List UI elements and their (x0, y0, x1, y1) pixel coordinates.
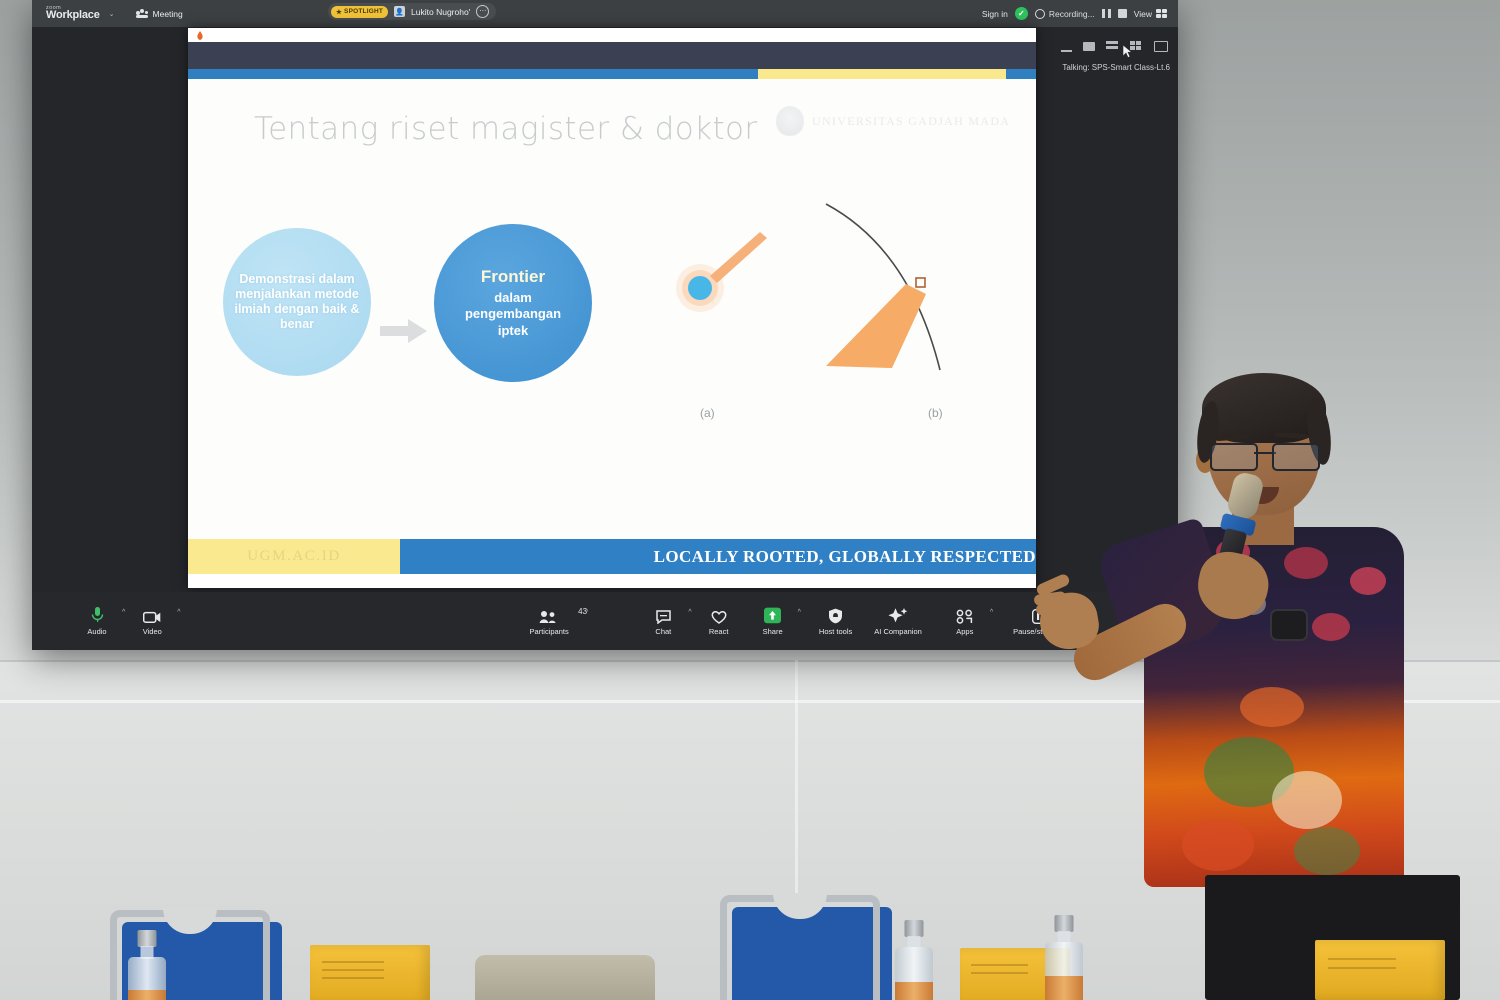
zoom-logo: zoom Workplace (46, 6, 100, 22)
zoom-title-bar: zoom Workplace ⌄ Meeting (32, 0, 1178, 27)
minimize-icon[interactable] (1061, 41, 1072, 52)
slide-title: Tentang riset magister & doktor (254, 111, 758, 147)
toolbar-participants-label: Participants (530, 627, 569, 636)
toolbar-video[interactable]: Video ^ (125, 607, 180, 636)
share-view-controls (1061, 41, 1168, 52)
stop-recording-icon[interactable] (1118, 9, 1127, 18)
diagram-part-b (826, 204, 940, 370)
yellow-box (1315, 940, 1445, 1000)
bottle-label (128, 990, 166, 1000)
concept-circle-right-body: dalam pengembangan iptek (434, 290, 592, 339)
toolbar-share-label: Share (763, 627, 783, 636)
pop-out-icon[interactable] (1154, 41, 1168, 52)
arrow-right-icon (380, 318, 428, 344)
slide-footer-right-block: LOCALLY ROOTED, GLOBALLY RESPECTED (400, 539, 1036, 574)
seat-cushion (475, 955, 655, 1000)
chevron-up-icon[interactable]: ^ (177, 609, 180, 616)
slide-topbar-yellow (758, 69, 1006, 79)
slide-topbar-blue-right (1006, 69, 1036, 79)
diagram-part-a (676, 232, 767, 312)
view-switcher[interactable]: View (1134, 9, 1168, 19)
conference-chair (720, 895, 880, 1000)
heart-icon (711, 607, 727, 624)
toolbar-chat[interactable]: Chat ^ (636, 607, 691, 636)
star-icon: ★ (336, 8, 342, 16)
chat-icon (656, 607, 671, 624)
diagram-label-a: (a) (700, 406, 715, 420)
sign-in-button[interactable]: Sign in (982, 9, 1008, 19)
recording-label: Recording... (1049, 9, 1095, 19)
slide-dark-band (188, 42, 1036, 69)
meeting-tab[interactable]: Meeting (136, 9, 183, 19)
toolbar-apps-label: Apps (956, 627, 973, 636)
spotlight-badge-label: SPOTLIGHT (344, 8, 383, 15)
meeting-tab-label: Meeting (153, 9, 183, 19)
screenshot-root: zoom Workplace ⌄ Meeting (0, 0, 1500, 1000)
spotlight-badge: ★ SPOTLIGHT (331, 6, 388, 18)
ugm-logo-lockup: UNIVERSITAS GADJAH MADA (776, 106, 1010, 136)
camera-icon (143, 607, 161, 624)
toolbar-audio[interactable]: Audio ^ (70, 607, 125, 636)
more-ellipsis-icon[interactable]: ⋯ (476, 5, 489, 18)
strip-view-icon[interactable] (1106, 41, 1119, 52)
toolbar-host-tools-label: Host tools (819, 627, 852, 636)
diagram-label-b: (b) (928, 406, 943, 420)
toolbar-react-label: React (709, 627, 729, 636)
bottle-body (895, 947, 933, 1000)
ugm-seal-icon (776, 106, 804, 136)
water-bottle (128, 930, 166, 1000)
toolbar-chat-label: Chat (655, 627, 671, 636)
shield-icon (828, 607, 843, 624)
share-screen-icon (763, 607, 782, 624)
participants-icon (539, 607, 559, 624)
people-group-icon (136, 9, 148, 19)
security-shield-icon[interactable]: ✓ (1015, 7, 1028, 20)
toolbar-share[interactable]: Share ^ (746, 607, 801, 636)
bottle-cap (905, 920, 924, 937)
slide-topbar-blue-left (188, 69, 758, 79)
concept-circle-left: Demonstrasi dalam menjalankan metode ilm… (223, 228, 371, 376)
sparkle-icon (888, 607, 908, 624)
eyeglass-lens-right (1272, 443, 1320, 471)
toolbar-apps[interactable]: Apps ^ (938, 607, 993, 636)
presentation-slide: Tentang riset magister & doktor UNIVERSI… (188, 28, 1036, 588)
wall-mounted-display: zoom Workplace ⌄ Meeting (32, 0, 1178, 650)
water-bottle (895, 920, 933, 1000)
concept-circle-left-text: Demonstrasi dalam menjalankan metode ilm… (223, 272, 371, 333)
speaker-view-icon[interactable] (1083, 42, 1095, 51)
chevron-up-icon[interactable]: ^ (990, 609, 993, 616)
presenter-left-arm (1034, 535, 1184, 605)
toolbar-host-tools[interactable]: Host tools (813, 607, 858, 636)
research-frontier-diagram (640, 198, 1000, 408)
chevron-up-icon[interactable]: ^ (798, 609, 801, 616)
water-bottle (1045, 915, 1083, 1000)
toolbar-ai-companion[interactable]: AI Companion (868, 607, 928, 636)
view-label: View (1134, 9, 1152, 19)
toolbar-participants[interactable]: Participants 43 ^ (522, 607, 588, 636)
workplace-wordmark: Workplace (46, 10, 100, 21)
bottle-label (1045, 976, 1083, 1000)
title-bar-right-controls: Sign in ✓ Recording... View (982, 0, 1168, 27)
avatar: 👤 (394, 6, 405, 17)
bottle-cap (1055, 915, 1074, 932)
yellow-box (310, 945, 430, 1000)
active-speaker-pill[interactable]: ★ SPOTLIGHT 👤 Lukito Nugroho' ⋯ (328, 3, 496, 20)
slide-footer-right-text: LOCALLY ROOTED, GLOBALLY RESPECTED (654, 547, 1036, 567)
concept-circle-right-heading: Frontier (481, 267, 545, 287)
ugm-logo-text: UNIVERSITAS GADJAH MADA (812, 114, 1010, 129)
zoom-meeting-toolbar: Audio ^ Video ^ (32, 592, 1178, 650)
apps-icon (956, 607, 973, 624)
bottle-body (128, 957, 166, 1000)
presenter-eyeglasses (1210, 443, 1320, 467)
bottle-cap (138, 930, 157, 947)
toolbar-react[interactable]: React (692, 607, 746, 636)
flame-icon (196, 31, 204, 40)
record-dot-icon (1035, 9, 1045, 19)
active-speaker-name: Lukito Nugroho' (411, 7, 470, 17)
slide-footer-left-text: UGM.AC.ID (247, 548, 341, 565)
toolbar-audio-label: Audio (87, 627, 106, 636)
toolbar-video-label: Video (143, 627, 162, 636)
chevron-up-icon[interactable]: ^ (585, 609, 588, 616)
eyeglass-lens-left (1210, 443, 1258, 471)
wristwatch (1270, 609, 1308, 641)
slide-footer-left-block: UGM.AC.ID (188, 539, 400, 574)
pause-recording-icon[interactable] (1102, 9, 1111, 18)
slide-top-white-strip (188, 28, 1036, 42)
toolbar-ai-companion-label: AI Companion (874, 627, 922, 636)
display-panel: zoom Workplace ⌄ Meeting (32, 0, 1178, 650)
microphone-icon (91, 607, 104, 624)
mouse-pointer-icon (1123, 45, 1132, 58)
talking-indicator: Talking: SPS-Smart Class-Lt.6 (1062, 63, 1170, 72)
chevron-down-icon[interactable]: ⌄ (109, 10, 115, 18)
bottle-body (1045, 942, 1083, 1000)
screen-share-viewport: Talking: SPS-Smart Class-Lt.6 Tentang ri… (32, 27, 1178, 592)
slide-bottom-white-strip (188, 574, 1036, 588)
recording-status[interactable]: Recording... (1035, 9, 1095, 19)
bottle-label (895, 982, 933, 1000)
layout-grid-icon (1156, 9, 1168, 19)
concept-circle-right: Frontier dalam pengembangan iptek (434, 224, 592, 382)
slide-footer: UGM.AC.ID LOCALLY ROOTED, GLOBALLY RESPE… (188, 539, 1036, 574)
